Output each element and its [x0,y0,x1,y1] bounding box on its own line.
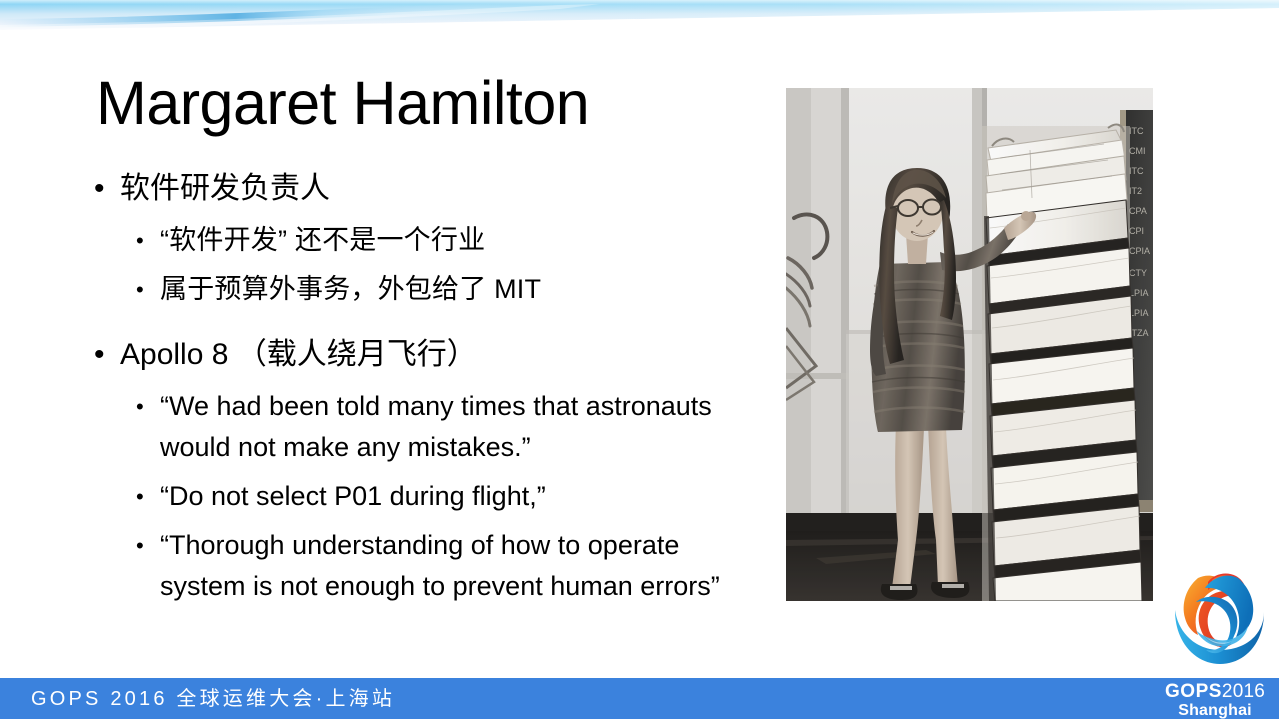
list-item-label: “We had been told many times that astron… [160,391,712,462]
list-item: • “软件开发” 还不是一个行业 [92,220,752,261]
footer-brand-year: 2016 [1222,681,1265,702]
list-item: • 属于预算外事务，外包给了 MIT [92,269,752,310]
top-decorative-band [0,0,1279,40]
list-item: • “We had been told many times that astr… [92,386,752,468]
footer-brand-line1: GOPS2016 [1165,682,1265,702]
bullet-marker-icon: • [136,386,144,427]
spacer [92,517,752,525]
list-item-label: “Thorough understanding of how to operat… [160,530,720,601]
list-item-label: 属于预算外事务，外包给了 MIT [160,274,541,304]
slide-canvas: Margaret Hamilton • 软件研发负责人 • “软件开发” 还不是… [0,0,1279,719]
list-item: • “Do not select P01 during flight,” [92,476,752,517]
bullet-marker-icon: • [136,269,144,310]
list-item: • “Thorough understanding of how to oper… [92,525,752,607]
gops-swirl-logo-graphic [1168,558,1268,670]
gops-swirl-logo [1168,558,1268,670]
footer-bar: GOPS 2016 全球运维大会·上海站 GOPS2016 Shanghai [0,678,1279,719]
margaret-hamilton-photo: ITC CMI ITC IT2 CPA CPI CPIA CTY LPIA LP… [786,88,1153,601]
list-item: • 软件研发负责人 [92,166,752,212]
list-item: • Apollo 8 （载人绕月飞行） [92,332,752,378]
list-item-label: “软件开发” 还不是一个行业 [160,225,485,255]
list-item-label: Apollo 8 （载人绕月飞行） [120,338,477,371]
bullet-marker-icon: • [136,476,144,517]
footer-brand: GOPS2016 Shanghai [1165,682,1265,719]
spacer [92,212,752,220]
footer-brand-city: Shanghai [1165,702,1265,719]
spacer [92,378,752,386]
list-item-label: “Do not select P01 during flight,” [160,481,546,511]
bullet-list: • 软件研发负责人 • “软件开发” 还不是一个行业 • 属于预算外事务，外包给… [92,166,752,607]
page-title: Margaret Hamilton [96,64,589,142]
spacer [92,468,752,476]
margaret-hamilton-photo-graphic: ITC CMI ITC IT2 CPA CPI CPIA CTY LPIA LP… [786,88,1153,601]
bullet-marker-icon: • [136,220,144,261]
footer-conference-title: GOPS 2016 全球运维大会·上海站 [31,688,395,710]
bullet-marker-icon: • [94,166,105,212]
bullet-marker-icon: • [136,525,144,566]
bullet-marker-icon: • [94,332,105,378]
spacer [92,261,752,269]
list-item-label: 软件研发负责人 [120,172,330,205]
footer-brand-name: GOPS [1165,681,1222,702]
top-band-graphic [0,0,1279,40]
spacer [92,310,752,332]
